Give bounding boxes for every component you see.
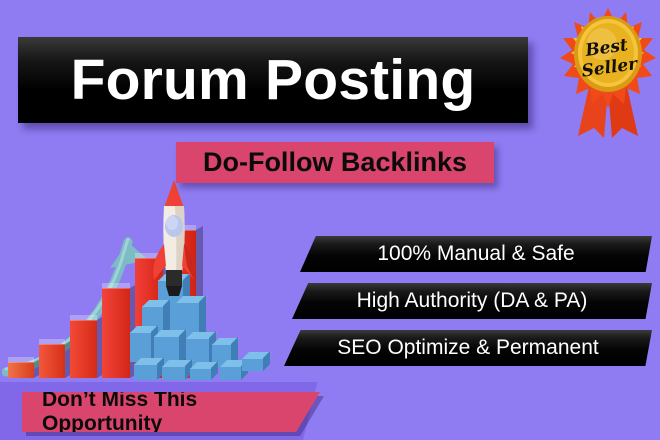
bar-1	[8, 362, 34, 378]
bar-3	[70, 320, 97, 378]
feature-bar-1: 100% Manual & Safe	[300, 236, 652, 272]
feature-label: SEO Optimize & Permanent	[337, 337, 598, 360]
cta-text: Don’t Miss This Opportunity	[22, 388, 320, 436]
best-seller-badge: Best Seller	[560, 4, 656, 140]
bar-4	[102, 288, 130, 378]
cta-banner: Don’t Miss This Opportunity	[22, 392, 320, 432]
subtitle-banner: Do-Follow Backlinks	[176, 142, 494, 183]
page-title: Forum Posting	[71, 52, 476, 109]
feature-bar-3: SEO Optimize & Permanent	[284, 330, 652, 366]
feature-label: 100% Manual & Safe	[377, 243, 574, 266]
badge-rosette-icon	[560, 4, 656, 140]
rocket-icon	[142, 178, 206, 306]
subtitle-text: Do-Follow Backlinks	[203, 147, 467, 178]
promo-poster: Forum Posting Do-Follow Backlinks 100% M…	[0, 0, 660, 440]
title-banner: Forum Posting	[18, 37, 528, 123]
bar-2	[39, 344, 65, 378]
feature-bar-2: High Authority (DA & PA)	[292, 283, 652, 319]
feature-label: High Authority (DA & PA)	[357, 290, 588, 313]
